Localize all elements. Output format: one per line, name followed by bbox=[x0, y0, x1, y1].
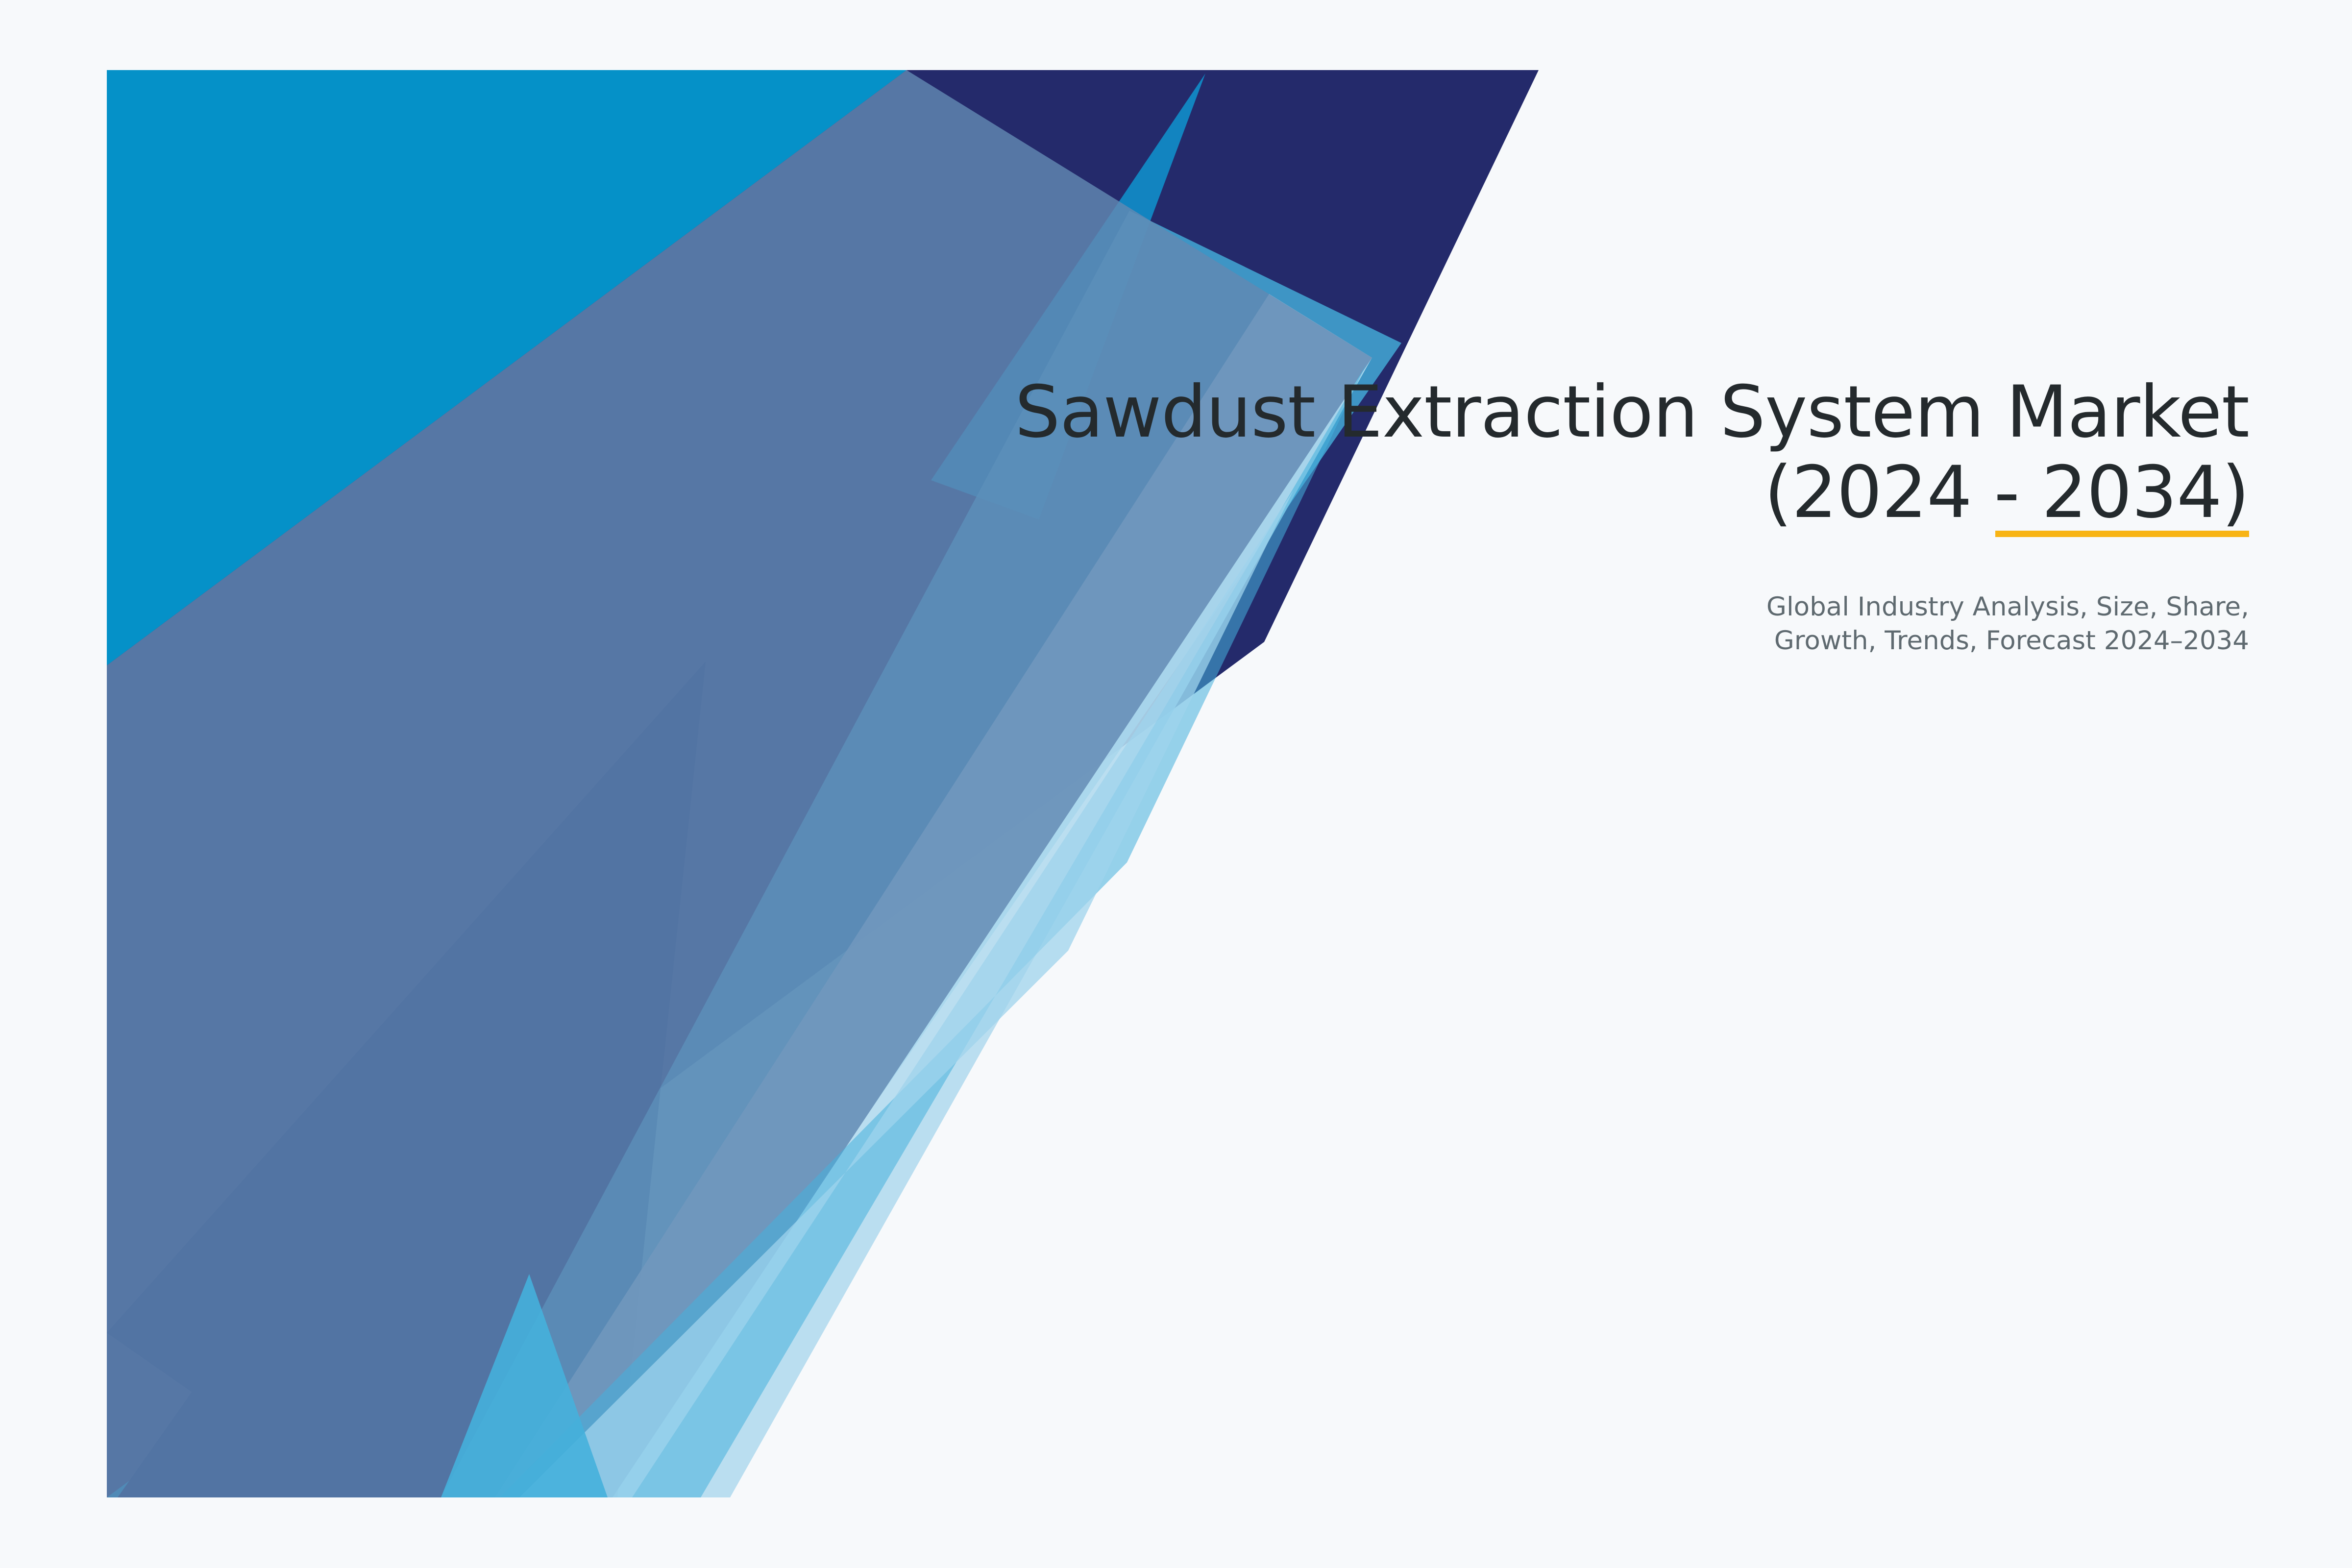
artwork-shape-deep-navy-spike bbox=[118, 661, 706, 1497]
artwork-shape-navy-top bbox=[107, 70, 1539, 1497]
cover-text-block: Sawdust Extraction System Market (2024 -… bbox=[686, 372, 2249, 658]
title-wrapper: Sawdust Extraction System Market (2024 -… bbox=[686, 372, 2249, 533]
artwork-shape-cyan bbox=[107, 70, 1210, 1497]
artwork-shape-slate-prism bbox=[107, 70, 1372, 1497]
page-subtitle: Global Industry Analysis, Size, Share, G… bbox=[686, 590, 2249, 658]
report-cover: Sawdust Extraction System Market (2024 -… bbox=[0, 0, 2352, 1568]
artwork-shape-deep-navy-lower bbox=[107, 661, 706, 1497]
artwork-shape-bottom-sliver bbox=[441, 1274, 608, 1497]
page-title: Sawdust Extraction System Market (2024 -… bbox=[686, 372, 2249, 533]
cover-artwork bbox=[0, 0, 2352, 1568]
artwork-shape-navy-wedge bbox=[107, 70, 1210, 1497]
